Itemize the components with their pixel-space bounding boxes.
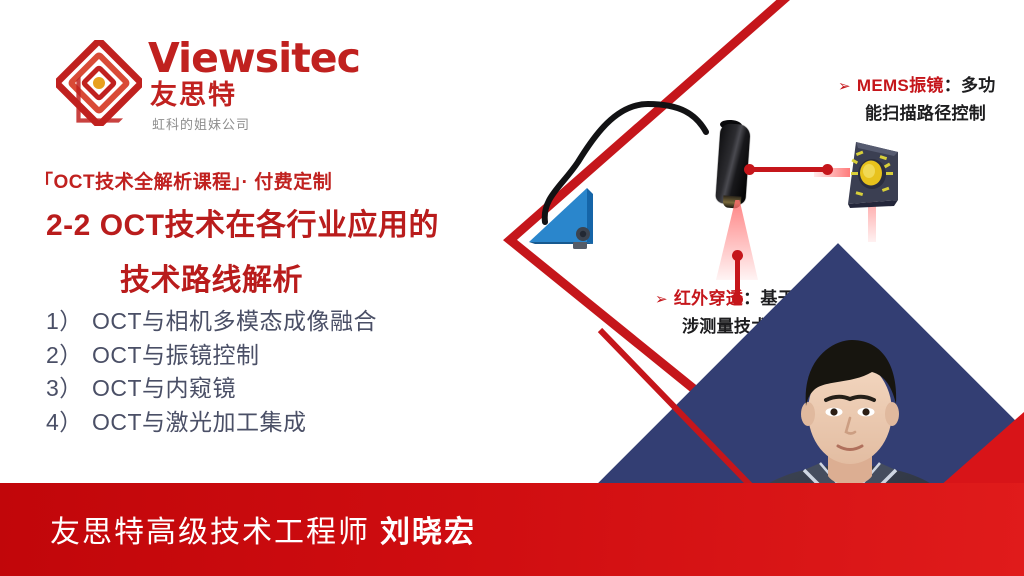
list-item-number: 3） xyxy=(46,372,92,406)
page-title-line2: 技术路线解析 xyxy=(120,255,303,299)
annotation-mems: ➢MEMS振镜：多功 能扫描路径控制 xyxy=(838,72,1024,127)
arrow-bullet-icon: ➢ xyxy=(838,78,851,95)
course-kicker: 「OCT技术全解析课程」· 付费定制 xyxy=(34,167,332,194)
annotation-separator: ： xyxy=(944,76,961,95)
list-item: 1） OCT与相机多模态成像融合 xyxy=(46,305,476,339)
list-item: 2） OCT与振镜控制 xyxy=(46,339,476,373)
presenter-credit: 友思特高级技术工程师刘晓宏 xyxy=(50,507,476,551)
list-item-number: 4） xyxy=(46,406,92,440)
list-item-number: 2） xyxy=(46,339,92,373)
red-leader-line-icon xyxy=(750,167,828,172)
presenter-name: 刘晓宏 xyxy=(380,516,476,549)
list-item-label: OCT与内窥镜 xyxy=(92,372,236,406)
red-leader-dot-icon xyxy=(822,164,833,175)
list-item: 3） OCT与内窥镜 xyxy=(46,372,476,406)
logo-wordmark: Viewsitec xyxy=(148,38,360,79)
arrow-bullet-icon: ➢ xyxy=(655,291,668,308)
annotation-key: 红外穿透 xyxy=(674,289,743,308)
annotation-separator: ： xyxy=(743,289,760,308)
brand-logo: Viewsitec 友思特 虹科的姐妹公司 xyxy=(56,36,356,144)
list-item-label: OCT与振镜控制 xyxy=(92,339,260,373)
nested-diamond-logo-icon xyxy=(56,40,142,126)
annotation-key: MEMS振镜 xyxy=(857,76,944,95)
list-item-label: OCT与激光加工集成 xyxy=(92,406,307,440)
list-item: 4） OCT与激光加工集成 xyxy=(46,406,476,440)
mems-mirror-chip-icon xyxy=(838,136,906,210)
annotation-text: 多功 xyxy=(961,76,996,95)
list-item-number: 1） xyxy=(46,305,92,339)
agenda-list: 1） OCT与相机多模态成像融合 2） OCT与振镜控制 3） OCT与内窥镜 … xyxy=(46,305,476,439)
page-title-line1: 2-2 OCT技术在各行业应用的 xyxy=(46,200,439,244)
slide-canvas: Viewsitec 友思特 虹科的姐妹公司 「OCT技术全解析课程」· 付费定制… xyxy=(0,0,1024,576)
presenter-role: 友思特高级技术工程师 xyxy=(50,516,370,549)
logo-name-cn: 友思特 xyxy=(150,82,237,109)
list-item-label: OCT与相机多模态成像融合 xyxy=(92,305,377,339)
annotation-text-line2: 能扫描路径控制 xyxy=(838,100,1024,128)
logo-tagline: 虹科的姐妹公司 xyxy=(152,114,250,133)
